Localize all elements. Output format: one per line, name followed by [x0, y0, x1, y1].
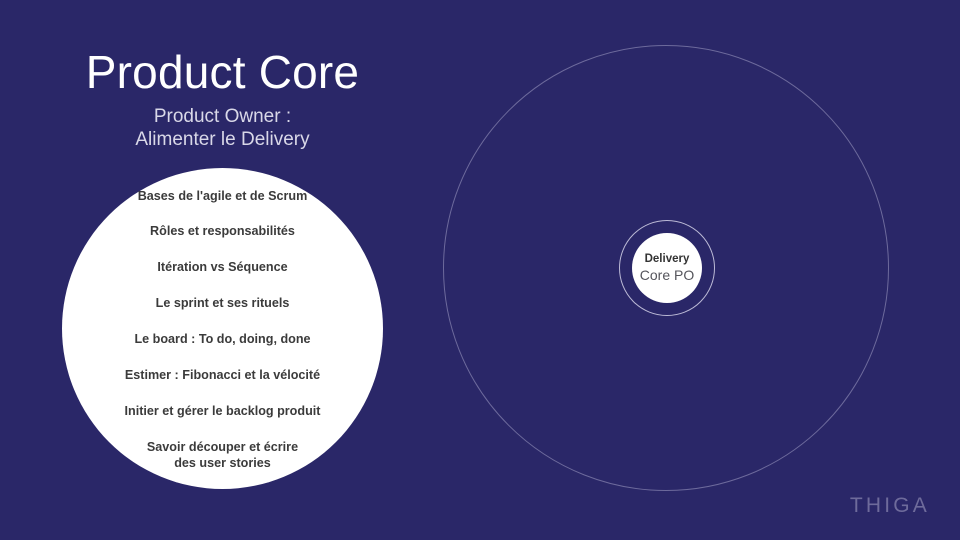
delivery-node-ring: Delivery Core PO [619, 220, 715, 316]
topic-item: Bases de l'agile et de Scrum [73, 188, 373, 204]
delivery-node-subtitle: Core PO [640, 268, 694, 283]
brand-logo: THIGA [850, 494, 930, 518]
topic-item: Rôles et responsabilités [73, 223, 373, 239]
page-subtitle-line-2: Alimenter le Delivery [0, 128, 445, 151]
slide-canvas: Product Core Product Owner : Alimenter l… [0, 0, 960, 540]
topic-item: Le board : To do, doing, done [73, 331, 373, 347]
delivery-node: Delivery Core PO [632, 233, 702, 303]
page-subtitle: Product Owner : Alimenter le Delivery [0, 105, 445, 151]
page-title: Product Core [0, 48, 445, 96]
topics-circle: Bases de l'agile et de Scrum Rôles et re… [62, 168, 383, 489]
topic-item: Estimer : Fibonacci et la vélocité [73, 367, 373, 383]
topic-item: Itération vs Séquence [73, 259, 373, 275]
title-block: Product Core Product Owner : Alimenter l… [0, 48, 445, 152]
topic-item: Le sprint et ses rituels [73, 295, 373, 311]
page-subtitle-line-1: Product Owner : [0, 105, 445, 128]
topic-item: Savoir découper et écrire des user stori… [73, 439, 373, 472]
delivery-node-title: Delivery [645, 253, 690, 266]
topic-item: Initier et gérer le backlog produit [73, 403, 373, 419]
